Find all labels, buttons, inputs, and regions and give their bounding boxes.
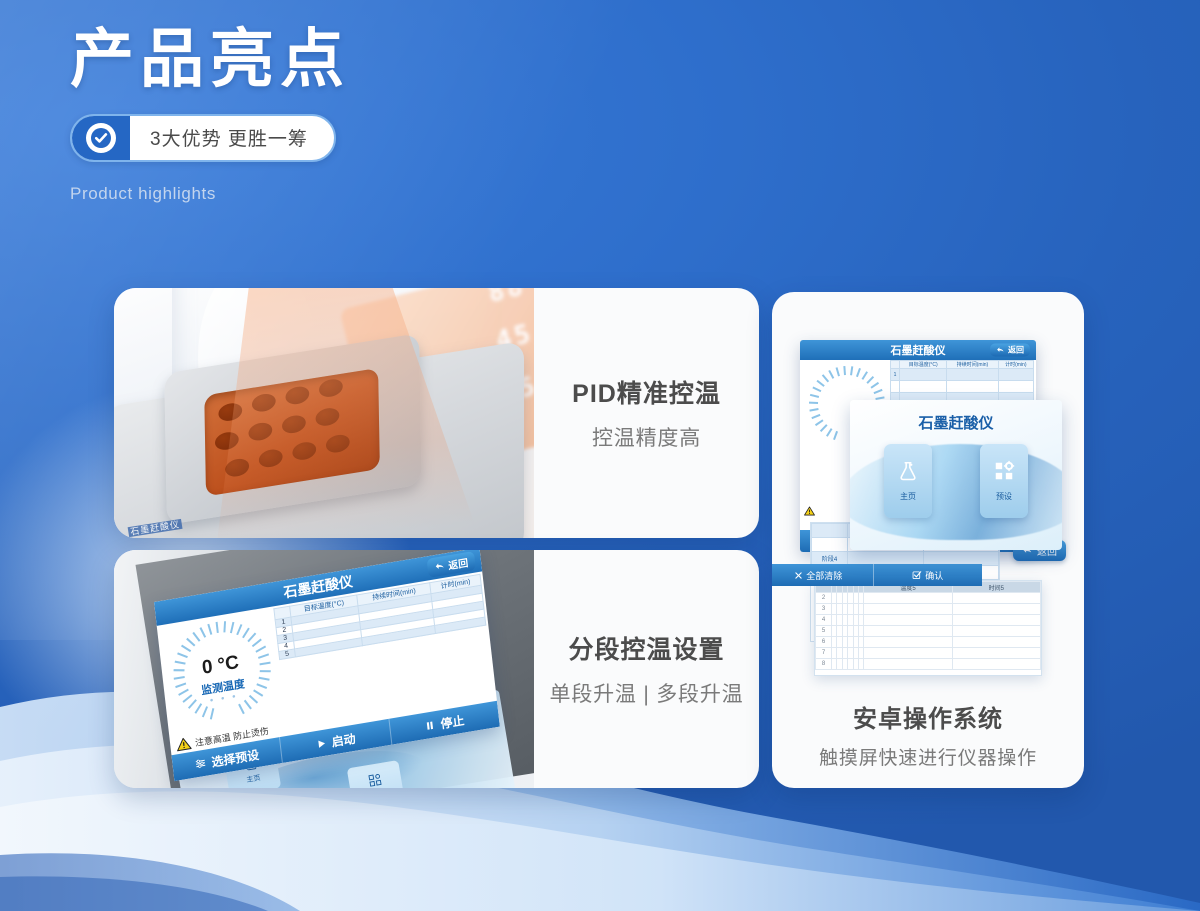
water-wave-background: [850, 444, 1062, 540]
android-preset-action-bar: 全部清除 确认: [772, 564, 982, 586]
android-card-copy: 安卓操作系统 触摸屏快速进行仪器操作: [772, 699, 1084, 770]
segment-card-heading: 分段控温设置: [568, 630, 724, 666]
grid-row: 2: [816, 593, 1041, 604]
check-circle-icon: [86, 123, 116, 153]
mini-tile-home-label: 主页: [246, 772, 261, 784]
clear-all-label: 全部清除: [806, 569, 842, 582]
pid-card-heading: PID精准控温: [572, 374, 721, 410]
stop-label: 停止: [440, 711, 466, 732]
table-header-target-temp: 目标温度(°C): [900, 361, 947, 369]
table-row: [891, 381, 1034, 393]
badge-label: 3大优势 更胜一筹: [130, 116, 334, 160]
segment-card-subheading: 单段升温 | 多段升温: [550, 678, 744, 708]
android-card-subheading: 触摸屏快速进行仪器操作: [819, 743, 1037, 770]
table-row: 1: [891, 369, 1034, 381]
segment-screen-photo: 主页 预设 石墨赶酸仪: [114, 550, 534, 788]
start-label: 启动: [331, 729, 357, 750]
grid-row-index: 8: [816, 659, 832, 670]
grid-row-index: 3: [816, 604, 832, 615]
page-header: 产品亮点 3大优势 更胜一筹 Product highlights: [70, 24, 770, 204]
confirm-label: 确认: [925, 569, 943, 582]
clear-all-button[interactable]: 全部清除: [772, 564, 874, 586]
table-header-row: 目标温度(°C) 持续时间(min) 计时(min): [891, 361, 1034, 369]
checkbox-icon: [912, 570, 922, 580]
grid-row-index: 7: [816, 648, 832, 659]
grid-row-index: 6: [816, 637, 832, 648]
android-data-grid[interactable]: 温度5 时间5 2 3 4 5 6 7 8: [814, 580, 1042, 676]
grid-row: 8: [816, 659, 1041, 670]
android-menu-screen[interactable]: 石墨赶酸仪 主页 预设: [850, 400, 1062, 550]
menu-tile-home[interactable]: 主页: [884, 444, 932, 518]
cell-timer[interactable]: [998, 369, 1033, 381]
pid-product-photo: 88 45 55: [114, 288, 534, 538]
row-index: 1: [891, 369, 900, 381]
arrow-back-icon: [996, 346, 1005, 355]
table-header-duration: 持续时间(min): [947, 361, 998, 369]
android-back-label: 返回: [1008, 345, 1024, 356]
android-card-heading: 安卓操作系统: [853, 699, 1003, 734]
page-title: 产品亮点: [70, 24, 770, 96]
grid-row: 4: [816, 615, 1041, 626]
android-screen-title: 石墨赶酸仪: [891, 342, 946, 358]
flask-icon: [897, 460, 919, 482]
grid-row: 5: [816, 626, 1041, 637]
grid-gear-icon: [993, 460, 1015, 482]
row-index: 5: [279, 649, 296, 660]
grid-row: 7: [816, 648, 1041, 659]
cell-duration[interactable]: [947, 369, 998, 381]
android-screens-visual: 石墨赶酸仪 返回: [772, 292, 1084, 690]
badge-icon-area: [72, 116, 130, 160]
cell-target-temp[interactable]: [900, 369, 947, 381]
android-warning: [804, 506, 815, 516]
android-menu-title: 石墨赶酸仪: [850, 412, 1062, 433]
grid-row-index: 4: [816, 615, 832, 626]
menu-tile-preset-label: 预设: [996, 491, 1012, 502]
android-back-button[interactable]: 返回: [990, 344, 1030, 357]
confirm-button[interactable]: 确认: [874, 564, 983, 586]
select-preset-label: 选择预设: [211, 745, 260, 770]
sliders-icon: [194, 757, 207, 771]
menu-tile-preset[interactable]: 预设: [980, 444, 1028, 518]
back-button-label: 返回: [447, 554, 468, 572]
graphite-well-block: [204, 368, 380, 496]
close-x-icon: [794, 571, 803, 580]
grid-row-index: 5: [816, 626, 832, 637]
pid-card-subheading: 控温精度高: [592, 422, 701, 452]
segment-card-copy: 分段控温设置 单段升温 | 多段升温: [534, 550, 759, 788]
arrow-back-icon: [434, 560, 446, 573]
grid-gear-icon: [367, 772, 383, 788]
menu-tile-home-label: 主页: [900, 491, 916, 502]
warning-triangle-icon: [176, 736, 192, 752]
table-header-timer: 计时(min): [998, 361, 1033, 369]
card-android-os[interactable]: 石墨赶酸仪 返回: [772, 292, 1084, 788]
led-digit-1: 88: [485, 288, 528, 309]
card-pid-temperature-control[interactable]: 88 45 55: [114, 288, 759, 538]
temperature-gauge: 0 °C 监测温度 ● ● ●: [167, 614, 275, 728]
grid-row: 6: [816, 637, 1041, 648]
grid-row-index: 2: [816, 593, 832, 604]
card-segmented-temperature[interactable]: 主页 预设 石墨赶酸仪: [114, 550, 759, 788]
grid-row: 3: [816, 604, 1041, 615]
table-header-index: [891, 361, 900, 369]
play-icon: [315, 737, 327, 750]
page-subtitle: Product highlights: [70, 184, 770, 204]
pause-icon: [424, 719, 436, 732]
android-screen-title-bar: 石墨赶酸仪 返回: [800, 340, 1036, 360]
advantage-badge: 3大优势 更胜一筹: [70, 114, 336, 162]
pid-card-copy: PID精准控温 控温精度高: [534, 288, 759, 538]
warning-triangle-icon: [804, 506, 815, 516]
